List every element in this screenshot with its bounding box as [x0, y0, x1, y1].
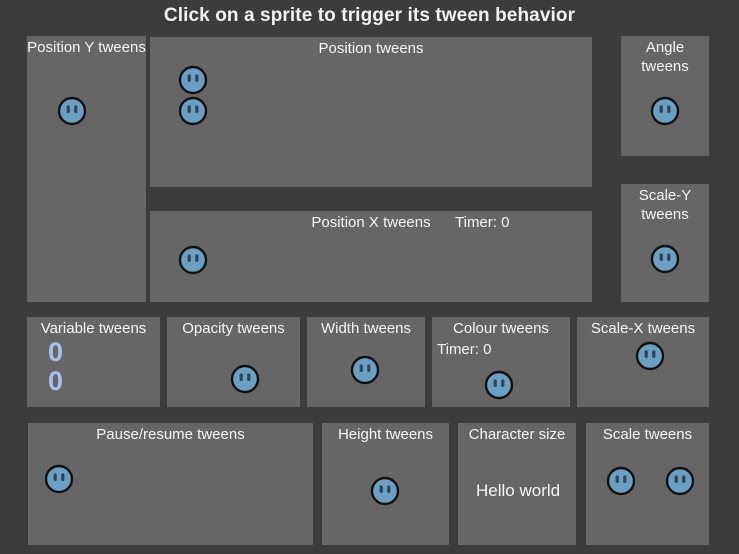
panel-label-character-size: Character size	[458, 425, 576, 444]
sprite-position-x-tweens-1[interactable]	[178, 245, 208, 275]
sprite-scale-tweens-1[interactable]	[606, 466, 636, 496]
panel-opacity-tweens: Opacity tweens	[167, 317, 300, 407]
panel-label-position-y-tweens: Position Y tweens	[27, 38, 146, 57]
variable-value-2: 0	[48, 368, 63, 395]
sprite-height-tweens-1[interactable]	[370, 476, 400, 506]
sprite-scale-x-tweens-1[interactable]	[635, 341, 665, 371]
panel-scale-y-tweens: Scale-Y tweens	[621, 184, 709, 302]
panel-pause-resume-tweens: Pause/resume tweens	[28, 423, 313, 545]
panel-label-height-tweens: Height tweens	[322, 425, 449, 444]
sprite-position-y-tweens-1[interactable]	[57, 96, 87, 126]
panel-position-y-tweens: Position Y tweens	[27, 36, 146, 302]
app-stage: Click on a sprite to trigger its tween b…	[0, 0, 739, 554]
panel-scale-tweens: Scale tweens	[586, 423, 709, 545]
timer-label-position-x-tweens: Timer: 0	[455, 213, 509, 232]
panel-scale-x-tweens: Scale-X tweens	[577, 317, 709, 407]
sprite-colour-tweens-1[interactable]	[484, 370, 514, 400]
panel-label-colour-tweens: Colour tweens	[432, 319, 570, 338]
panel-angle-tweens: Angle tweens	[621, 36, 709, 156]
sprite-position-tweens-1[interactable]	[178, 65, 208, 95]
panel-label-scale-tweens: Scale tweens	[586, 425, 709, 444]
panel-variable-tweens: Variable tweens00	[27, 317, 160, 407]
panel-character-size: Character sizeHello world	[458, 423, 576, 545]
sprite-opacity-tweens-1[interactable]	[230, 364, 260, 394]
sprite-scale-y-tweens-1[interactable]	[650, 244, 680, 274]
sprite-scale-tweens-2[interactable]	[665, 466, 695, 496]
sprite-width-tweens-1[interactable]	[350, 355, 380, 385]
page-title: Click on a sprite to trigger its tween b…	[0, 5, 739, 27]
variable-value-1: 0	[48, 339, 63, 366]
character-size-text: Hello world	[476, 481, 560, 501]
panel-colour-tweens: Colour tweensTimer: 0	[432, 317, 570, 407]
panel-label-width-tweens: Width tweens	[307, 319, 425, 338]
panel-label-angle-tweens: Angle tweens	[621, 38, 709, 76]
panel-label-position-x-tweens: Position X tweens	[150, 213, 592, 232]
sprite-pause-resume-tweens-1[interactable]	[44, 464, 74, 494]
panel-label-variable-tweens: Variable tweens	[27, 319, 160, 338]
panel-position-x-tweens: Position X tweensTimer: 0	[150, 211, 592, 302]
panel-label-pause-resume-tweens: Pause/resume tweens	[28, 425, 313, 444]
sprite-angle-tweens-1[interactable]	[650, 96, 680, 126]
panel-label-scale-y-tweens: Scale-Y tweens	[621, 186, 709, 224]
sprite-position-tweens-2[interactable]	[178, 96, 208, 126]
panel-label-scale-x-tweens: Scale-X tweens	[577, 319, 709, 338]
panel-width-tweens: Width tweens	[307, 317, 425, 407]
panel-label-opacity-tweens: Opacity tweens	[167, 319, 300, 338]
panel-height-tweens: Height tweens	[322, 423, 449, 545]
timer-label-colour-tweens: Timer: 0	[437, 340, 491, 359]
panel-position-tweens: Position tweens	[150, 37, 592, 187]
panel-label-position-tweens: Position tweens	[150, 39, 592, 58]
